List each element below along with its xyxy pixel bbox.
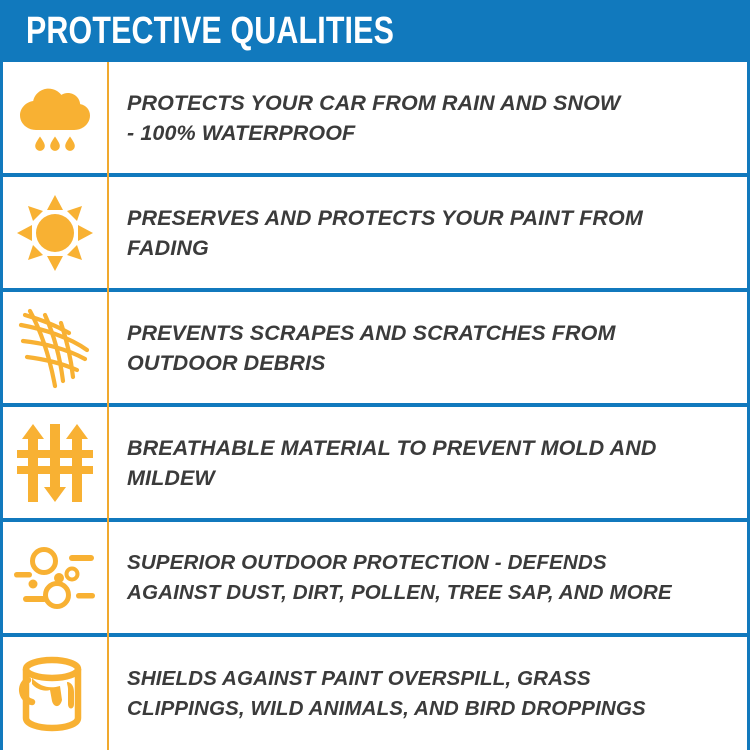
feature-row: SUPERIOR OUTDOOR PROTECTION - DEFENDS AG… xyxy=(3,522,747,637)
feature-row: SHIELDS AGAINST PAINT OVERSPILL, GRASS C… xyxy=(3,637,747,750)
airflow-arrows-icon xyxy=(3,407,107,518)
feature-text-line-2: - 100% WATERPROOF xyxy=(127,118,737,148)
feature-row: PROTECTS YOUR CAR FROM RAIN AND SNOW - 1… xyxy=(3,62,747,177)
feature-text-line-1: PROTECTS YOUR CAR FROM RAIN AND SNOW xyxy=(127,88,737,118)
dust-particles-icon xyxy=(3,522,107,633)
feature-row: PRESERVES AND PROTECTS YOUR PAINT FROM F… xyxy=(3,177,747,292)
feature-text-line-2: CLIPPINGS, WILD ANIMALS, AND BIRD DROPPI… xyxy=(127,694,737,724)
rain-cloud-icon xyxy=(3,62,107,173)
feature-list: PROTECTS YOUR CAR FROM RAIN AND SNOW - 1… xyxy=(0,62,750,750)
feature-text-line-2: FADING xyxy=(127,233,737,263)
paint-can-icon xyxy=(3,637,107,750)
feature-text: PROTECTS YOUR CAR FROM RAIN AND SNOW - 1… xyxy=(107,88,747,148)
header-bar: PROTECTIVE QUALITIES xyxy=(0,0,750,62)
feature-text-line-1: SUPERIOR OUTDOOR PROTECTION - DEFENDS xyxy=(127,548,737,578)
feature-text: BREATHABLE MATERIAL TO PREVENT MOLD AND … xyxy=(107,433,747,493)
feature-text: SUPERIOR OUTDOOR PROTECTION - DEFENDS AG… xyxy=(107,548,747,608)
page-title: PROTECTIVE QUALITIES xyxy=(26,12,394,50)
feature-text: PREVENTS SCRAPES AND SCRATCHES FROM OUTD… xyxy=(107,318,747,378)
feature-text-line-1: SHIELDS AGAINST PAINT OVERSPILL, GRASS xyxy=(127,664,737,694)
sun-icon xyxy=(3,177,107,288)
protective-qualities-infographic: PROTECTIVE QUALITIES PROTECTS YOUR CAR F… xyxy=(0,0,750,750)
scratch-mesh-icon xyxy=(3,292,107,403)
feature-text: PRESERVES AND PROTECTS YOUR PAINT FROM F… xyxy=(107,203,747,263)
feature-text-line-1: PREVENTS SCRAPES AND SCRATCHES FROM xyxy=(127,318,737,348)
feature-row: BREATHABLE MATERIAL TO PREVENT MOLD AND … xyxy=(3,407,747,522)
feature-text-line-1: BREATHABLE MATERIAL TO PREVENT MOLD AND xyxy=(127,433,737,463)
feature-text: SHIELDS AGAINST PAINT OVERSPILL, GRASS C… xyxy=(107,664,747,724)
feature-row: PREVENTS SCRAPES AND SCRATCHES FROM OUTD… xyxy=(3,292,747,407)
feature-text-line-2: OUTDOOR DEBRIS xyxy=(127,348,737,378)
feature-text-line-1: PRESERVES AND PROTECTS YOUR PAINT FROM xyxy=(127,203,737,233)
feature-text-line-2: AGAINST DUST, DIRT, POLLEN, TREE SAP, AN… xyxy=(127,578,737,608)
feature-text-line-2: MILDEW xyxy=(127,463,737,493)
